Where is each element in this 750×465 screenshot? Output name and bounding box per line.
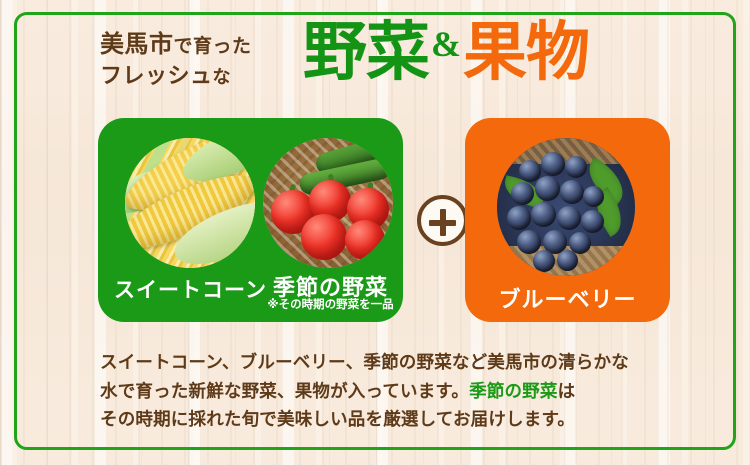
heading-block: 美馬市で育った フレッシュな 野菜&果物 — [95, 28, 670, 110]
blueberry — [535, 176, 560, 201]
blueberry — [557, 250, 578, 271]
description-line2-b: は — [558, 381, 576, 401]
sweet-corn-photo — [125, 138, 255, 268]
heading-line-2: フレッシュな — [100, 62, 231, 91]
blueberry — [583, 186, 604, 207]
seasonal-vegetables-note: ※その時期の野菜を一品 — [258, 296, 403, 312]
tomato — [301, 214, 347, 260]
plus-vertical-bar — [440, 209, 446, 236]
description-highlight: 季節の野菜 — [469, 381, 558, 401]
seasonal-vegetables-image — [263, 138, 393, 268]
description-text: スイートコーン、ブルーベリー、季節の野菜など美馬市の清らかな 水で育った新鮮な野… — [100, 348, 670, 434]
blueberry — [511, 182, 534, 205]
tomato — [345, 220, 385, 260]
description-line-2: 水で育った新鮮な野菜、果物が入っています。季節の野菜は — [100, 377, 670, 406]
heading-line-1: 美馬市で育った — [100, 30, 252, 62]
blueberry — [557, 206, 581, 230]
description-line2-a: 水で育った新鮮な野菜、果物が入っています。 — [100, 381, 469, 401]
seasonal-vegetables-photo — [263, 138, 393, 268]
blueberry — [541, 152, 565, 176]
heading-line2-tail: な — [213, 67, 232, 87]
heading-title: 野菜&果物 — [303, 20, 589, 84]
heading-line1-tail: で育った — [174, 36, 252, 57]
blueberry-label: ブルーベリー — [465, 282, 670, 314]
blueberry — [533, 250, 555, 272]
description-line-3: その時期に採れた旬で美味しい品を厳選してお届けします。 — [100, 405, 670, 434]
plus-icon — [417, 195, 468, 246]
blueberry — [517, 230, 541, 254]
description-line-1: スイートコーン、ブルーベリー、季節の野菜など美馬市の清らかな — [100, 348, 670, 377]
blueberry — [531, 202, 556, 227]
blueberry — [565, 156, 587, 178]
fruit-panel: ブルーベリー — [465, 118, 670, 322]
title-ampersand: & — [429, 24, 463, 64]
blueberry-image — [497, 138, 635, 276]
promo-banner: 美馬市で育った フレッシュな 野菜&果物 — [0, 0, 750, 465]
blueberry-photo — [497, 138, 635, 276]
heading-line2-main: フレッシュ — [100, 63, 213, 88]
sweet-corn-image — [125, 138, 255, 268]
title-orange-text: 果物 — [463, 16, 589, 88]
blueberry — [507, 206, 531, 230]
title-green-text: 野菜 — [303, 16, 429, 88]
blueberry — [581, 210, 604, 233]
sweet-corn-label: スイートコーン — [108, 274, 273, 304]
blueberry — [560, 180, 584, 204]
heading-line1-main: 美馬市 — [100, 31, 174, 58]
vegetables-panel: スイートコーン 季節の野菜 ※その時期の野菜を一品 — [98, 118, 403, 322]
